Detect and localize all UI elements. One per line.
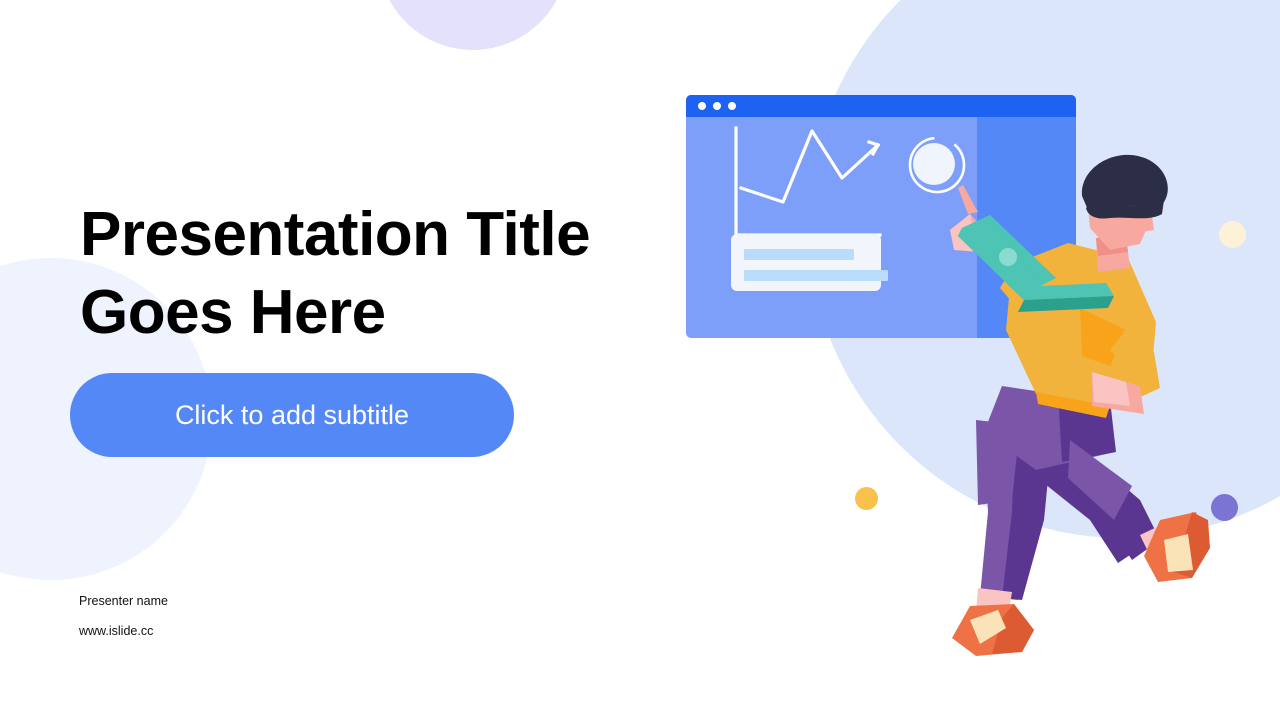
presentation-slide: Presentation Title Goes Here Click to ad… — [0, 0, 1280, 720]
text-card-widget — [731, 234, 888, 291]
decor-top-lavender-circle — [378, 0, 568, 50]
character-illustration — [950, 155, 1210, 656]
page-title: Presentation Title Goes Here — [80, 196, 680, 351]
add-subtitle-button[interactable]: Click to add subtitle — [70, 373, 514, 457]
hero-illustration — [640, 0, 1280, 720]
presenter-name-text: Presenter name — [79, 594, 168, 608]
website-text: www.islide.cc — [79, 624, 153, 638]
